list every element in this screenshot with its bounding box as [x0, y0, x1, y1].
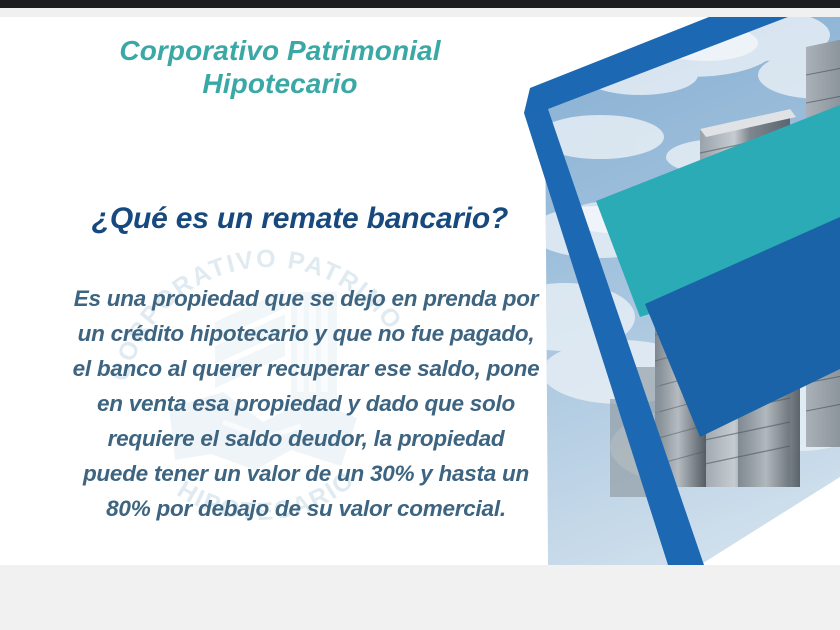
screenshot-root: CORPORATIVO PATRIMONIAL HIPOTECARIO — [0, 0, 840, 630]
body-line-3: el banco al querer recuperar ese saldo, … — [2, 351, 610, 386]
bottom-letterbox-bar — [0, 565, 840, 630]
brand-title-line2: Hipotecario — [0, 67, 560, 100]
top-letterbox-strip — [0, 8, 840, 17]
brand-title-line1: Corporativo Patrimonial — [119, 35, 440, 66]
flyer-canvas: CORPORATIVO PATRIMONIAL HIPOTECARIO — [0, 17, 840, 565]
top-letterbox-bar — [0, 0, 840, 8]
body-line-2: un crédito hipotecario y que no fue paga… — [2, 316, 610, 351]
headline-question: ¿Qué es un remate bancario? — [0, 202, 600, 236]
body-line-5: requiere el saldo deudor, la propiedad — [2, 421, 610, 456]
body-paragraph: Es una propiedad que se dejo en prenda p… — [2, 281, 610, 526]
body-line-6: puede tener un valor de un 30% y hasta u… — [2, 456, 610, 491]
body-line-1: Es una propiedad que se dejo en prenda p… — [2, 281, 610, 316]
brand-title: Corporativo Patrimonial Hipotecario — [0, 34, 560, 100]
body-line-4: en venta esa propiedad y dado que solo — [2, 386, 610, 421]
body-line-7: 80% por debajo de su valor comercial. — [2, 491, 610, 526]
